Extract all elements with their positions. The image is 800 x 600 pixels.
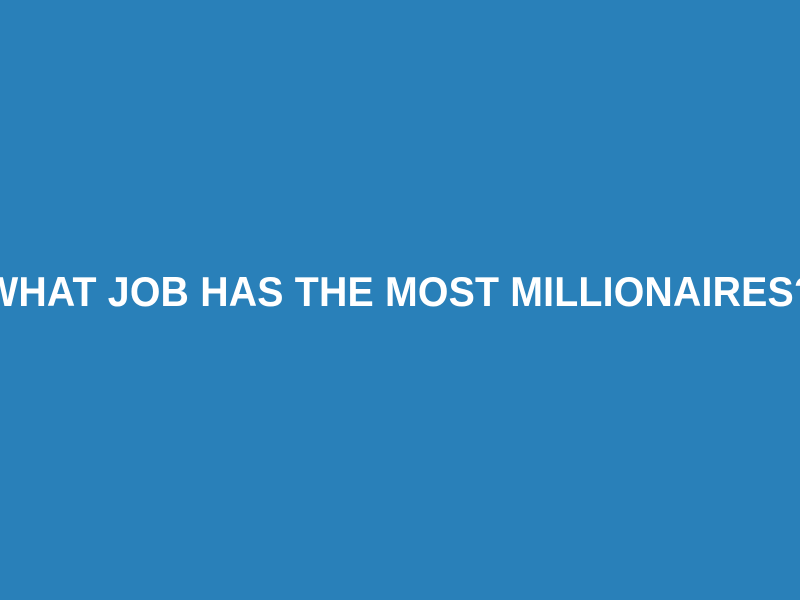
featured-image-banner: WHAT JOB HAS THE MOST MILLIONAIRES? xyxy=(0,0,800,600)
headline-container: WHAT JOB HAS THE MOST MILLIONAIRES? xyxy=(0,264,800,320)
banner-headline: WHAT JOB HAS THE MOST MILLIONAIRES? xyxy=(0,270,800,314)
